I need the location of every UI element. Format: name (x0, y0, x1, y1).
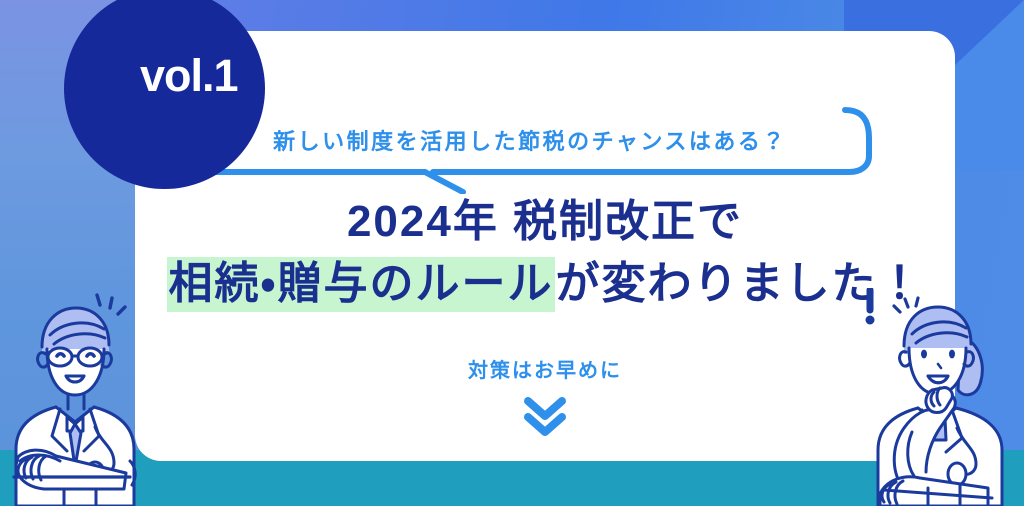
headline-line-1: 2024年 税制改正で (135, 196, 955, 248)
scroll-down-arrow[interactable] (135, 393, 955, 437)
speech-bubble: 新しい制度を活用した節税のチャンスはある？ (175, 104, 885, 194)
speech-bubble-text: 新しい制度を活用した節税のチャンスはある？ (175, 124, 885, 156)
double-chevron-down-icon[interactable] (522, 393, 568, 437)
headline-line-2: 相続・贈与のルールが変わりました！ (135, 257, 955, 311)
male-doctor-illustration (4, 291, 164, 506)
sub-text: 対策はお早めに (135, 354, 955, 383)
headline-highlight: 相続・贈与のルール (167, 257, 556, 312)
content-card: 新しい制度を活用した節税のチャンスはある？ 2024年 税制改正で 相続・贈与の… (135, 31, 955, 461)
tax-reform-banner: 新しい制度を活用した節税のチャンスはある？ 2024年 税制改正で 相続・贈与の… (0, 0, 1024, 506)
volume-badge-label: vol.1 (140, 50, 238, 102)
female-doctor-illustration (856, 288, 1022, 506)
headline: 2024年 税制改正で 相続・贈与のルールが変わりました！ (135, 196, 955, 311)
